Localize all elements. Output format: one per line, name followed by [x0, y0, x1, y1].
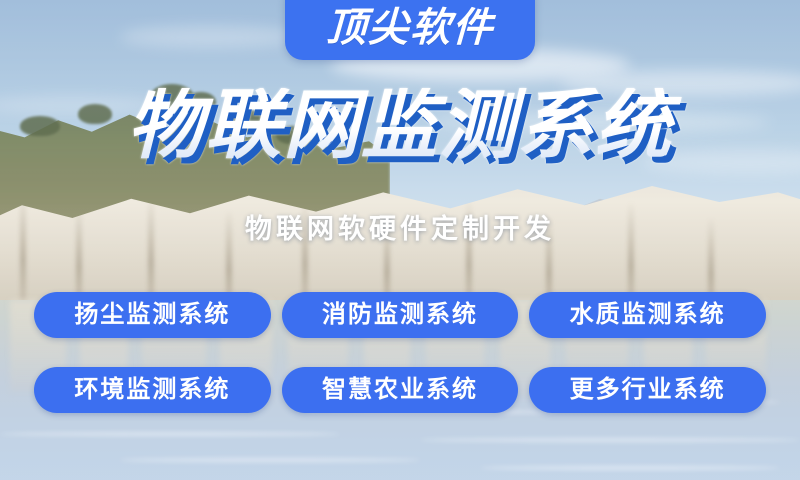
pill-smart-agriculture[interactable]: 智慧农业系统: [282, 367, 519, 413]
system-category-grid: 扬尘监测系统 消防监测系统 水质监测系统 环境监测系统 智慧农业系统 更多行业系…: [34, 292, 766, 413]
pill-environment-monitoring[interactable]: 环境监测系统: [34, 367, 271, 413]
pill-fire-monitoring[interactable]: 消防监测系统: [282, 292, 519, 338]
pill-dust-monitoring[interactable]: 扬尘监测系统: [34, 292, 271, 338]
pill-label: 更多行业系统: [570, 378, 726, 402]
pill-water-quality-monitoring[interactable]: 水质监测系统: [529, 292, 766, 338]
pill-label: 智慧农业系统: [322, 378, 478, 402]
pill-more-industry-systems[interactable]: 更多行业系统: [529, 367, 766, 413]
promo-banner: 顶尖软件 物联网监测系统 物联网软硬件定制开发 扬尘监测系统 消防监测系统 水质…: [0, 0, 800, 480]
pill-label: 水质监测系统: [570, 303, 726, 327]
pill-label: 消防监测系统: [322, 303, 478, 327]
pill-label: 环境监测系统: [74, 378, 230, 402]
brand-badge[interactable]: 顶尖软件: [285, 0, 535, 60]
banner-content: 顶尖软件 物联网监测系统 物联网软硬件定制开发 扬尘监测系统 消防监测系统 水质…: [0, 0, 800, 480]
page-subtitle: 物联网软硬件定制开发: [0, 207, 800, 246]
page-title: 物联网监测系统: [0, 88, 800, 164]
brand-badge-label: 顶尖软件: [325, 8, 495, 60]
pill-label: 扬尘监测系统: [74, 303, 230, 327]
